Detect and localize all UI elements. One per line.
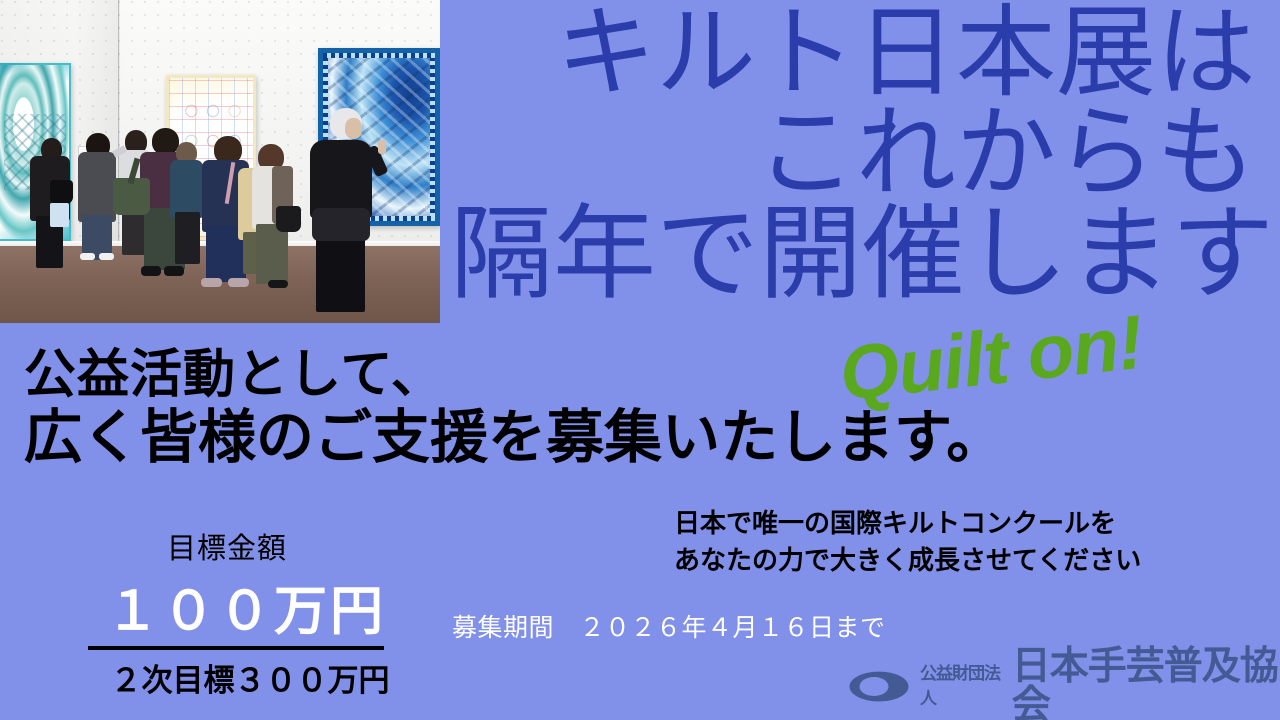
pledge-line-1: 公益活動として、: [24, 348, 1004, 403]
svg-text:h: h: [889, 680, 899, 697]
funding-goal-block: 目標金額 １００万円 ２次目標３００万円: [30, 525, 420, 700]
goal-label: 目標金額: [30, 525, 420, 567]
appeal-line-2: あなたの力で大きく成長させてください: [674, 542, 1141, 579]
headline: キルト日本展は これからも 隔年で開催します: [450, 4, 1262, 307]
goal-amount: １００万円: [30, 569, 420, 645]
headline-line-3: 隔年で開催します: [450, 204, 1262, 307]
campaign-period: 募集期間 ２０２６年４月１６日まで: [452, 608, 886, 644]
goal-stretch-amount: ２次目標３００万円: [30, 655, 420, 700]
eye-mark-icon: h: [848, 670, 910, 703]
organization-name: 日本手芸普及協会: [1012, 647, 1280, 720]
pledge-line-2: 広く皆様のご支援を募集いたします。: [24, 407, 1004, 468]
headline-line-1: キルト日本展は: [450, 4, 1262, 104]
crowdfunding-poster: キルト日本展は これからも 隔年で開催します Quilt on! 公益活動として…: [0, 0, 1280, 720]
goal-divider: [88, 646, 384, 650]
organization-logo: h 公益財団法人 日本手芸普及協会: [848, 647, 1280, 720]
organization-name-group: 公益財団法人 日本手芸普及協会: [920, 647, 1280, 720]
pledge-statement: 公益活動として、 広く皆様のご支援を募集いたします。: [24, 348, 1004, 469]
organization-kind: 公益財団法人: [920, 659, 1005, 709]
appeal-message: 日本で唯一の国際キルトコンクールを あなたの力で大きく成長させてください: [674, 505, 1141, 579]
appeal-line-1: 日本で唯一の国際キルトコンクールを: [674, 505, 1141, 542]
headline-line-2: これからも: [450, 104, 1262, 204]
exhibition-photo: [0, 0, 440, 323]
